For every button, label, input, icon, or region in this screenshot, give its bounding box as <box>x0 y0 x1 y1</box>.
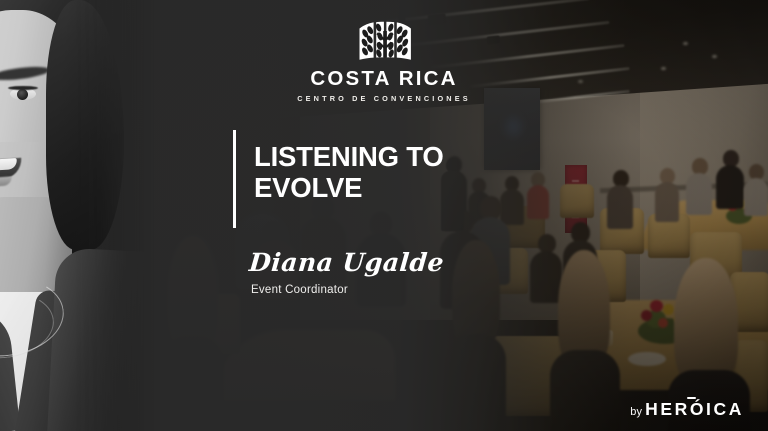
presentation-slide: COSTA RICA CENTRO DE CONVENCIONES LISTEN… <box>0 0 768 431</box>
speaker-name: Diana Ugalde <box>248 249 445 277</box>
heroica-studio-text: HERÓICA <box>645 399 744 419</box>
page-title: LISTENING TO EVOLVE <box>254 142 444 204</box>
macron-accent-icon <box>687 397 696 399</box>
heroica-by-label: by <box>630 406 642 418</box>
speaker-role: Event Coordinator <box>251 284 446 296</box>
title-accent-bar <box>233 130 236 228</box>
brand-name: COSTA RICA <box>0 69 768 90</box>
heroica-studio-name: HERÓICA <box>645 399 744 420</box>
title-block: LISTENING TO EVOLVE <box>233 130 444 228</box>
brand-subtitle: CENTRO DE CONVENCIONES <box>0 94 768 103</box>
tree-in-book-icon <box>356 14 412 64</box>
brand-logo: COSTA RICA CENTRO DE CONVENCIONES <box>0 14 768 103</box>
speaker-block: Diana Ugalde Event Coordinator <box>248 249 443 296</box>
heroica-logo: by HERÓICA <box>630 399 744 420</box>
